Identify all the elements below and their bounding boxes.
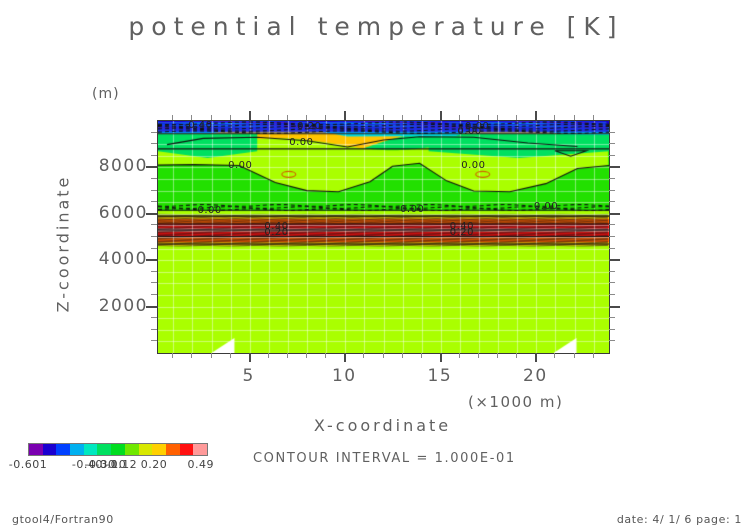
y-tick-8500 [151,155,157,156]
x-tick-label-10: 10 [314,366,374,386]
x-tick-11 [363,353,364,358]
colorbar-swatch-7 [125,444,139,455]
y-tick-right-9500 [609,132,615,133]
x-tick-13 [402,353,403,358]
x-tick-top-4 [230,115,231,120]
y-tick-3000 [151,282,157,283]
contour-label-1: -0.20 [293,121,321,132]
colorbar[interactable]: -0.601-0.40-0.30-0.10-0.120.200.49 [28,443,208,456]
x-tick-top-9 [325,115,326,120]
colorbar-swatch-4 [84,444,98,455]
colorbar-swatches [28,443,208,456]
x-tick-top-7 [287,115,288,120]
y-tick-right-500 [609,340,615,341]
contour-label-3: 0.00 [457,126,481,137]
y-tick-right-2500 [609,294,615,295]
x-tick-8 [306,353,307,358]
x-tick-top-5 [249,111,251,120]
x-tick-top-21 [554,115,555,120]
colorbar-swatch-12 [193,444,207,455]
x-axis-title: X-coordinate [157,416,608,435]
x-axis-unit-label: (×1000 m) [468,393,563,411]
y-tick-500 [151,340,157,341]
x-tick-19 [516,353,517,358]
colorbar-swatch-5 [97,444,111,455]
x-tick-top-1 [172,115,173,120]
contour-label-7: 0.00 [198,205,222,216]
colorbar-swatch-9 [152,444,166,455]
contour-label-11: 0.20 [264,227,288,238]
footer-date-page: date: 4/ 1/ 6 page: 1 [617,513,742,526]
x-tick-top-17 [478,115,479,120]
y-tick-4500 [151,248,157,249]
x-tick-top-19 [516,115,517,120]
x-tick-16 [459,353,460,358]
colorbar-label-5: 0.20 [141,458,168,471]
x-tick-6 [268,353,269,358]
contour-plot-area[interactable] [157,120,610,354]
x-tick-15 [440,353,442,362]
x-tick-top-6 [268,115,269,120]
colorbar-swatch-0 [29,444,43,455]
x-tick-top-20 [535,111,537,120]
x-tick-top-14 [421,115,422,120]
y-tick-6500 [151,201,157,202]
y-axis-unit-label: (m) [92,86,120,102]
colorbar-swatch-3 [70,444,84,455]
contour-label-13: 0.20 [450,227,474,238]
contour-label-8: 0.00 [400,204,424,215]
y-tick-5000 [151,236,157,237]
y-tick-2500 [151,294,157,295]
contour-label-5: 0.00 [228,160,252,171]
y-tick-1500 [151,317,157,318]
y-tick-right-7000 [609,190,615,191]
colorbar-label-6: 0.49 [188,458,215,471]
x-tick-top-18 [497,115,498,120]
y-tick-1000 [151,329,157,330]
x-tick-1 [172,353,173,358]
x-tick-label-15: 15 [410,366,470,386]
x-tick-10 [344,353,346,362]
x-tick-2 [191,353,192,358]
y-tick-9500 [151,132,157,133]
y-tick-right-8000 [609,166,620,168]
x-tick-18 [497,353,498,358]
y-tick-right-3000 [609,282,615,283]
colorbar-swatch-8 [139,444,153,455]
y-tick-right-6000 [609,213,620,215]
x-tick-23 [593,353,594,358]
colorbar-label-0: -0.601 [9,458,47,471]
contour-label-0: -0.40 [184,120,212,131]
x-tick-21 [554,353,555,358]
y-tick-label-2000: 2000 [70,296,148,316]
footer-producer: gtool4/Fortran90 [12,513,114,526]
x-tick-17 [478,353,479,358]
y-tick-label-4000: 4000 [70,249,148,269]
x-tick-top-10 [344,111,346,120]
y-tick-right-6500 [609,201,615,202]
x-tick-label-5: 5 [219,366,279,386]
x-tick-top-23 [593,115,594,120]
colorbar-swatch-2 [56,444,70,455]
y-tick-label-8000: 8000 [70,156,148,176]
y-tick-right-9000 [609,143,615,144]
y-tick-7500 [151,178,157,179]
y-tick-right-1000 [609,329,615,330]
contour-label-4: 0.00 [289,137,313,148]
x-tick-label-20: 20 [505,366,565,386]
y-tick-9000 [151,143,157,144]
y-tick-right-3500 [609,271,615,272]
x-tick-12 [383,353,384,358]
colorbar-swatch-6 [111,444,125,455]
x-tick-3 [211,353,212,358]
x-tick-top-12 [383,115,384,120]
x-tick-top-8 [306,115,307,120]
contour-interval-text: CONTOUR INTERVAL = 1.000E-01 [253,451,516,466]
x-tick-5 [249,353,251,362]
x-tick-top-16 [459,115,460,120]
y-tick-right-2000 [609,306,620,308]
y-tick-right-7500 [609,178,615,179]
x-tick-top-11 [363,115,364,120]
page-title: potential temperature [K] [0,12,752,41]
y-tick-label-6000: 6000 [70,203,148,223]
x-tick-9 [325,353,326,358]
y-tick-right-4000 [609,259,620,261]
x-tick-22 [574,353,575,358]
x-tick-4 [230,353,231,358]
y-tick-right-5000 [609,236,615,237]
y-tick-right-4500 [609,248,615,249]
x-tick-14 [421,353,422,358]
y-tick-right-5500 [609,224,615,225]
y-tick-right-1500 [609,317,615,318]
x-tick-7 [287,353,288,358]
colorbar-swatch-1 [43,444,57,455]
y-tick-5500 [151,224,157,225]
colorbar-swatch-10 [166,444,180,455]
contour-field-canvas [158,121,609,353]
x-tick-top-15 [440,111,442,120]
x-tick-20 [535,353,537,362]
contour-label-6: 0.00 [461,160,485,171]
colorbar-label-4: -0.12 [106,458,137,471]
x-tick-top-22 [574,115,575,120]
contour-label-9: 0.00 [534,201,558,212]
y-tick-right-8500 [609,155,615,156]
y-tick-3500 [151,271,157,272]
y-tick-7000 [151,190,157,191]
x-tick-top-13 [402,115,403,120]
colorbar-swatch-11 [180,444,194,455]
